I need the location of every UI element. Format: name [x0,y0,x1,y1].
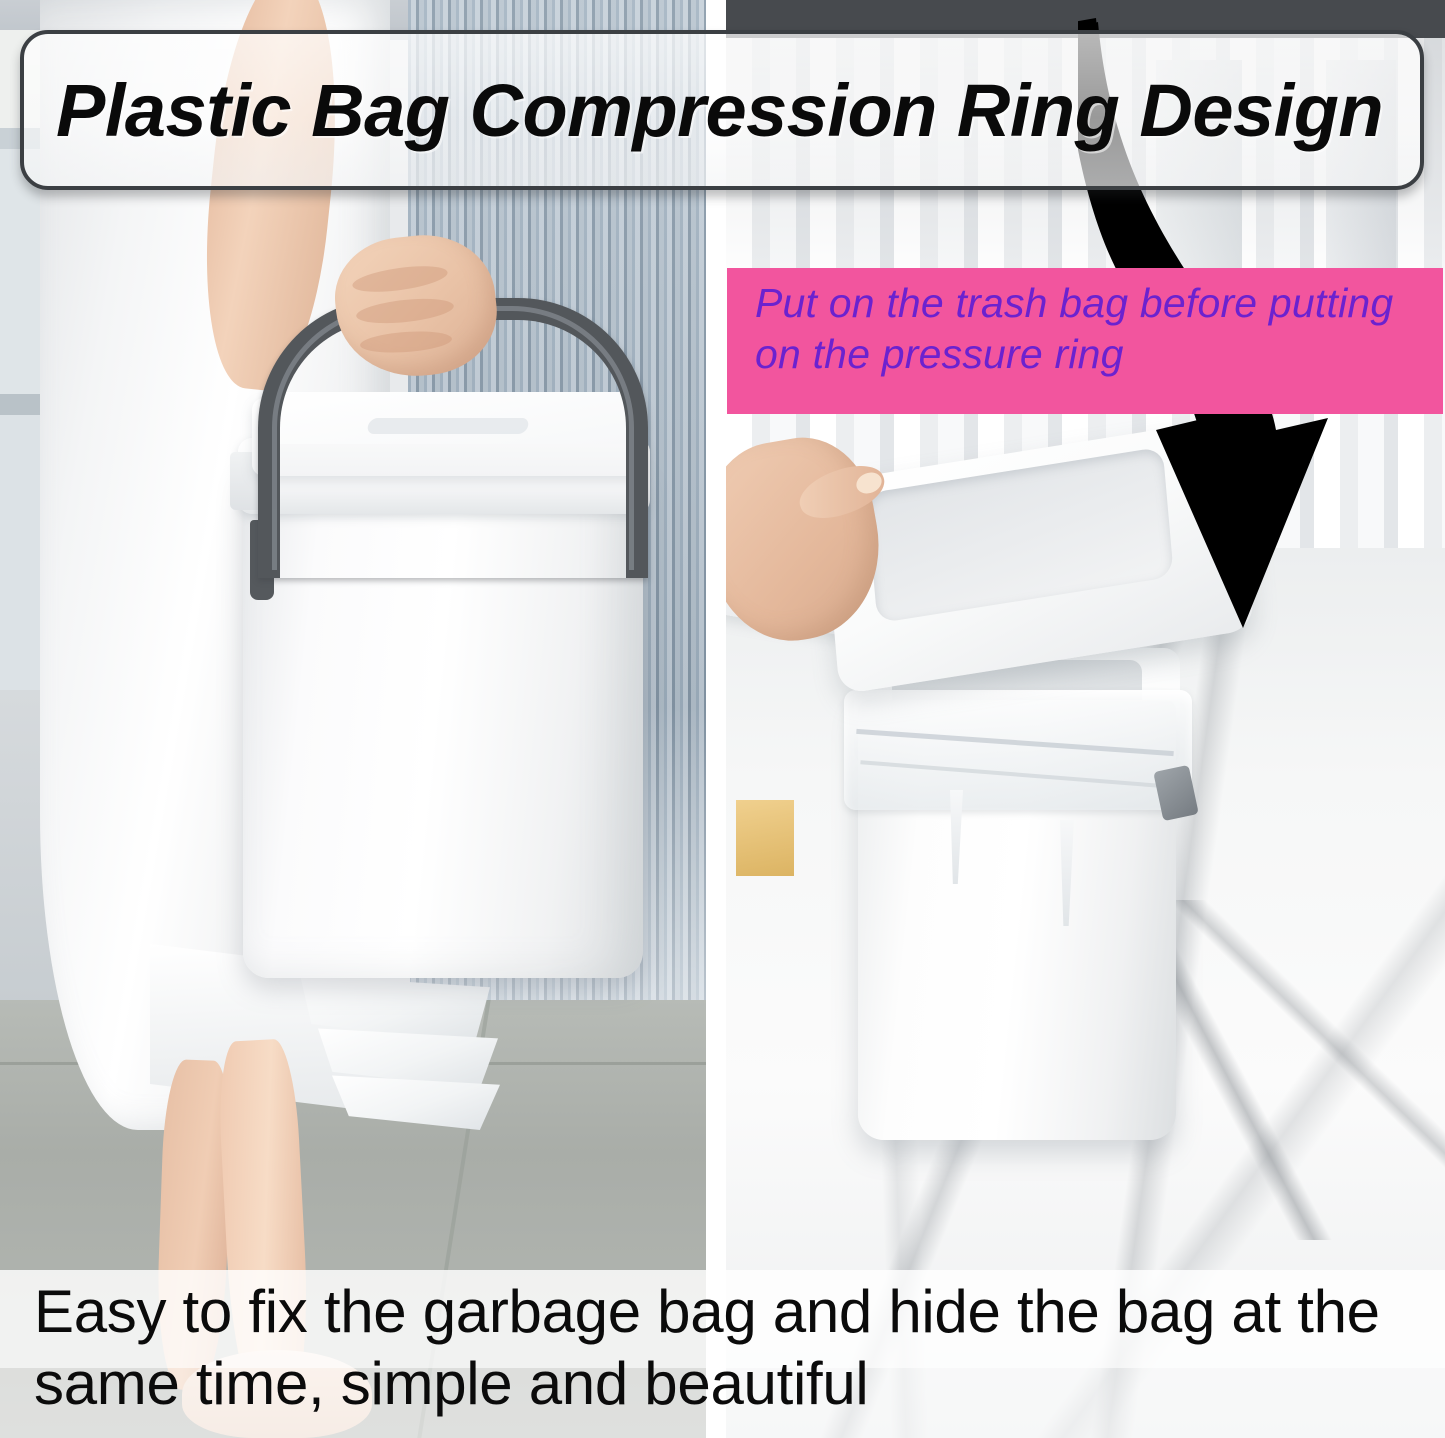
title-banner: Plastic Bag Compression Ring Design [20,30,1424,190]
instruction-callout: Put on the trash bag before putting on t… [727,268,1443,414]
bottom-caption: Easy to fix the garbage bag and hide the… [0,1270,1445,1438]
yellow-box [736,800,794,876]
instruction-callout-text: Put on the trash bag before putting on t… [755,278,1443,380]
right-photo-panel [726,0,1445,1438]
left-photo-panel [0,0,712,1438]
panel-divider [706,0,726,1438]
caption-text: Easy to fix the garbage bag and hide the… [34,1276,1434,1420]
product-infographic: Plastic Bag Compression Ring Design Put … [0,0,1445,1438]
page-title: Plastic Bag Compression Ring Design [56,68,1383,153]
